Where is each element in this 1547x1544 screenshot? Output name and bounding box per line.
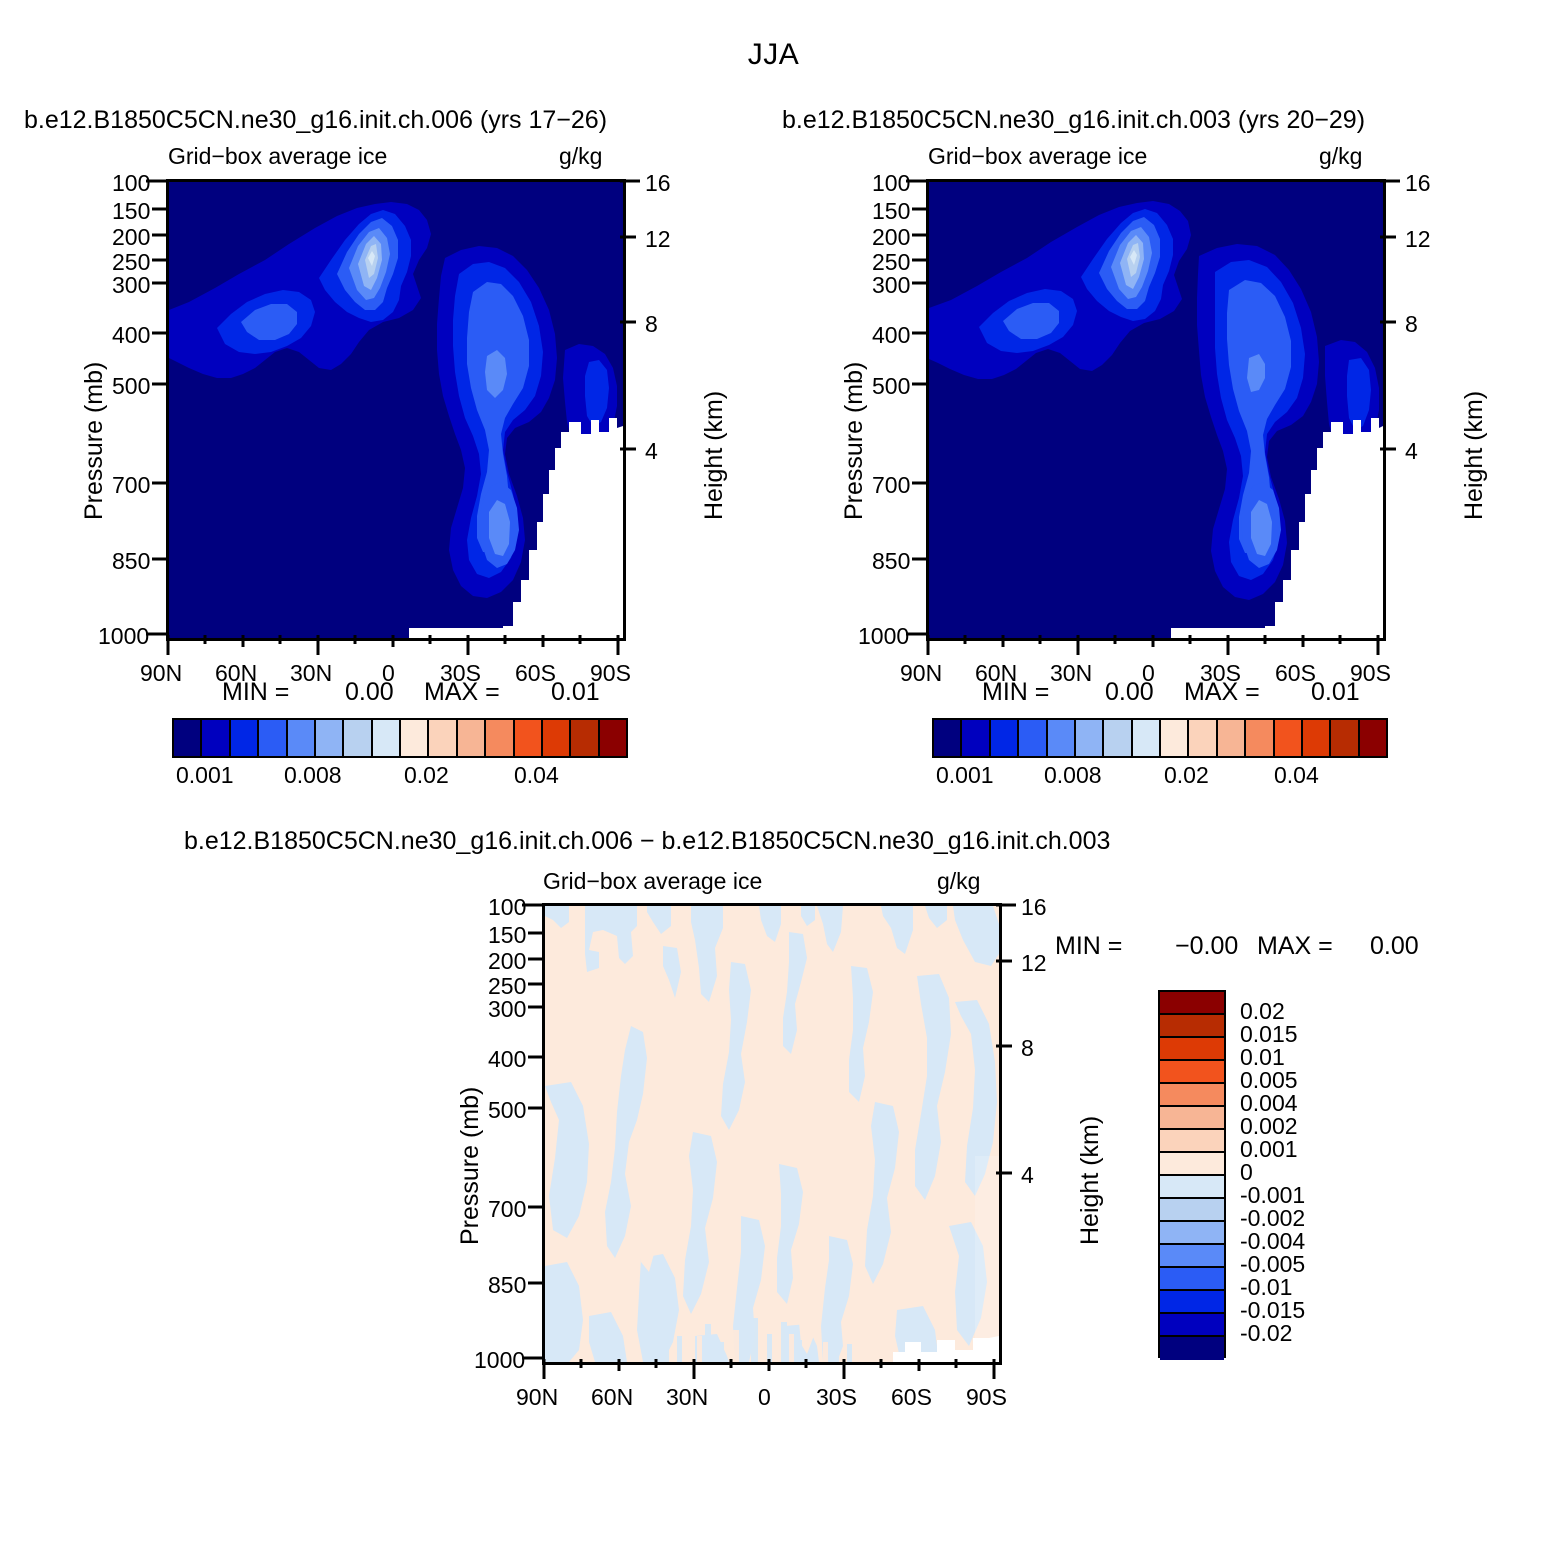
p-tick: 100	[112, 170, 150, 197]
colorbar-swatch-8	[401, 720, 429, 756]
colorbar-swatch-15	[600, 720, 626, 756]
colorbar-swatch-1	[202, 720, 230, 756]
panel-right-var-label: Grid−box average ice	[928, 143, 1147, 170]
colorbar-swatch-1	[962, 720, 990, 756]
panel-right-y2label: Height (km)	[1460, 391, 1489, 520]
colorbar-swatch-0	[934, 720, 962, 756]
cbar-tick: 0.001	[176, 762, 234, 789]
panel-diff-contour-svg	[545, 906, 999, 1362]
panel-left-title: b.e12.B1850C5CN.ne30_g16.init.ch.006 (yr…	[24, 106, 607, 135]
p-tick: 850	[488, 1272, 526, 1299]
panel-diff-legend[interactable]: 0.020.0150.010.0050.0040.0020.0010-0.001…	[1158, 990, 1226, 1358]
colorbar-swatch-8	[1161, 720, 1189, 756]
cbar-tick: 0.02	[1164, 762, 1209, 789]
legend-swatch-0	[1160, 992, 1224, 1015]
panel-diff-min-label: MIN =	[1055, 932, 1122, 961]
page-title: JJA	[0, 38, 1547, 72]
panel-left-y2label: Height (km)	[700, 391, 729, 520]
colorbar-swatch-3	[259, 720, 287, 756]
colorbar-swatch-6	[344, 720, 372, 756]
panel-left-height-ticks	[618, 179, 642, 637]
lat-tick: 60N	[591, 1384, 633, 1411]
panel-diff-title: b.e12.B1850C5CN.ne30_g16.init.ch.006 − b…	[184, 827, 1110, 856]
panel-right-plot	[926, 179, 1386, 641]
h-tick: 4	[645, 438, 658, 465]
panel-right-height-ticks	[1378, 179, 1402, 637]
p-tick: 300	[872, 272, 910, 299]
p-tick: 700	[488, 1196, 526, 1223]
panel-diff-ylabel: Pressure (mb)	[456, 1087, 485, 1245]
panel-right-min-label: MIN =	[982, 678, 1049, 707]
p-tick: 850	[112, 548, 150, 575]
p-tick: 300	[488, 996, 526, 1023]
cbar-tick: 0.008	[1044, 762, 1102, 789]
legend-swatch-7	[1160, 1153, 1224, 1176]
legend-swatch-4	[1160, 1084, 1224, 1107]
lat-tick: 90N	[516, 1384, 558, 1411]
p-tick: 400	[872, 322, 910, 349]
lat-tick: 30S	[816, 1384, 857, 1411]
h-tick: 4	[1021, 1162, 1034, 1189]
legend-swatch-1	[1160, 1015, 1224, 1038]
colorbar-swatch-7	[1133, 720, 1161, 756]
legend-level-label: -0.02	[1240, 1320, 1292, 1347]
colorbar-swatch-10	[458, 720, 486, 756]
cbar-tick: 0.04	[514, 762, 559, 789]
h-tick: 8	[645, 311, 658, 338]
colorbar-swatch-5	[1076, 720, 1104, 756]
lat-tick: 60S	[891, 1384, 932, 1411]
p-tick: 1000	[858, 623, 909, 650]
colorbar-swatch-12	[515, 720, 543, 756]
p-tick: 850	[872, 548, 910, 575]
panel-diff-max-value: 0.00	[1370, 932, 1419, 961]
h-tick: 12	[1405, 226, 1431, 253]
legend-swatch-12	[1160, 1268, 1224, 1291]
panel-right-max-value: 0.01	[1311, 678, 1360, 707]
colorbar-swatch-2	[991, 720, 1019, 756]
p-tick: 300	[112, 272, 150, 299]
panel-diff-height-ticks	[994, 903, 1018, 1361]
legend-swatch-13	[1160, 1291, 1224, 1314]
lat-tick: 60S	[1275, 660, 1316, 687]
p-tick: 500	[872, 373, 910, 400]
colorbar-swatch-14	[571, 720, 599, 756]
h-tick: 8	[1405, 311, 1418, 338]
legend-swatch-14	[1160, 1314, 1224, 1337]
cbar-tick: 0.008	[284, 762, 342, 789]
panel-right-colorbar[interactable]	[932, 718, 1388, 758]
panel-right-units-label: g/kg	[1319, 143, 1362, 170]
panel-left-units-label: g/kg	[559, 143, 602, 170]
colorbar-swatch-0	[174, 720, 202, 756]
panel-left-min-value: 0.00	[345, 678, 394, 707]
colorbar-swatch-9	[429, 720, 457, 756]
p-tick: 200	[872, 224, 910, 251]
p-tick: 100	[872, 170, 910, 197]
cbar-tick: 0.001	[936, 762, 994, 789]
colorbar-swatch-13	[543, 720, 571, 756]
lat-tick: 60S	[515, 660, 556, 687]
lat-tick: 90N	[140, 660, 182, 687]
panel-diff-min-value: −0.00	[1175, 932, 1238, 961]
cbar-tick: 0.02	[404, 762, 449, 789]
h-tick: 16	[1405, 170, 1431, 197]
colorbar-swatch-5	[316, 720, 344, 756]
p-tick: 150	[112, 198, 150, 225]
colorbar-swatch-9	[1189, 720, 1217, 756]
panel-left-pressure-ticks	[146, 179, 170, 637]
panel-right-title: b.e12.B1850C5CN.ne30_g16.init.ch.003 (yr…	[782, 106, 1365, 135]
h-tick: 12	[645, 226, 671, 253]
panel-left-max-value: 0.01	[551, 678, 600, 707]
legend-colorbar[interactable]	[1158, 990, 1226, 1358]
legend-swatch-5	[1160, 1107, 1224, 1130]
p-tick: 150	[872, 198, 910, 225]
colorbar-swatch-3	[1019, 720, 1047, 756]
panel-diff-units-label: g/kg	[937, 868, 980, 895]
lat-tick: 30N	[1050, 660, 1092, 687]
cbar-tick: 0.04	[1274, 762, 1319, 789]
colorbar-swatch-10	[1218, 720, 1246, 756]
colorbar-swatch-15	[1360, 720, 1386, 756]
colorbar-swatch-7	[373, 720, 401, 756]
colorbar-swatch-4	[288, 720, 316, 756]
p-tick: 1000	[474, 1347, 525, 1374]
panel-left-max-label: MAX =	[424, 678, 500, 707]
p-tick: 150	[488, 922, 526, 949]
legend-swatch-11	[1160, 1245, 1224, 1268]
panel-left-plot	[166, 179, 626, 641]
panel-diff-pressure-ticks	[522, 903, 546, 1361]
p-tick: 500	[488, 1097, 526, 1124]
lat-tick: 30N	[290, 660, 332, 687]
colorbar-swatch-14	[1331, 720, 1359, 756]
colorbar-swatch-13	[1303, 720, 1331, 756]
panel-left-lat-ticks	[166, 633, 624, 657]
colorbar-swatch-6	[1104, 720, 1132, 756]
p-tick: 700	[872, 472, 910, 499]
panel-right-pressure-ticks	[906, 179, 930, 637]
panel-right-max-label: MAX =	[1184, 678, 1260, 707]
panel-diff-lat-ticks	[542, 1357, 1000, 1381]
legend-swatch-2	[1160, 1038, 1224, 1061]
legend-swatch-6	[1160, 1130, 1224, 1153]
p-tick: 700	[112, 472, 150, 499]
legend-swatch-8	[1160, 1176, 1224, 1199]
panel-left-contour-svg	[169, 182, 623, 638]
colorbar-swatch-11	[1246, 720, 1274, 756]
legend-swatch-3	[1160, 1061, 1224, 1084]
panel-diff-plot	[542, 903, 1002, 1365]
p-tick: 1000	[98, 623, 149, 650]
legend-swatch-10	[1160, 1222, 1224, 1245]
panel-right-min-value: 0.00	[1105, 678, 1154, 707]
panel-right-ylabel: Pressure (mb)	[840, 362, 869, 520]
lat-tick: 90N	[900, 660, 942, 687]
p-tick: 500	[112, 373, 150, 400]
lat-tick: 0	[758, 1384, 771, 1411]
panel-left-min-label: MIN =	[222, 678, 289, 707]
lat-tick: 90S	[966, 1384, 1007, 1411]
panel-left-var-label: Grid−box average ice	[168, 143, 387, 170]
legend-swatch-9	[1160, 1199, 1224, 1222]
h-tick: 16	[1021, 894, 1047, 921]
p-tick: 400	[488, 1046, 526, 1073]
p-tick: 200	[488, 948, 526, 975]
panel-diff-y2label: Height (km)	[1076, 1116, 1105, 1245]
legend-swatch-15	[1160, 1337, 1224, 1360]
panel-right-contour-svg	[929, 182, 1383, 638]
panel-right-lat-ticks	[926, 633, 1384, 657]
p-tick: 100	[488, 894, 526, 921]
p-tick: 200	[112, 224, 150, 251]
panel-left-ylabel: Pressure (mb)	[80, 362, 109, 520]
h-tick: 16	[645, 170, 671, 197]
h-tick: 12	[1021, 950, 1047, 977]
p-tick: 400	[112, 322, 150, 349]
colorbar-swatch-11	[486, 720, 514, 756]
colorbar-swatch-2	[231, 720, 259, 756]
h-tick: 8	[1021, 1035, 1034, 1062]
colorbar-swatch-4	[1048, 720, 1076, 756]
lat-tick: 30N	[666, 1384, 708, 1411]
panel-diff-max-label: MAX =	[1257, 932, 1333, 961]
colorbar-swatch-12	[1275, 720, 1303, 756]
h-tick: 4	[1405, 438, 1418, 465]
panel-left-colorbar[interactable]	[172, 718, 628, 758]
panel-diff-var-label: Grid−box average ice	[543, 868, 762, 895]
